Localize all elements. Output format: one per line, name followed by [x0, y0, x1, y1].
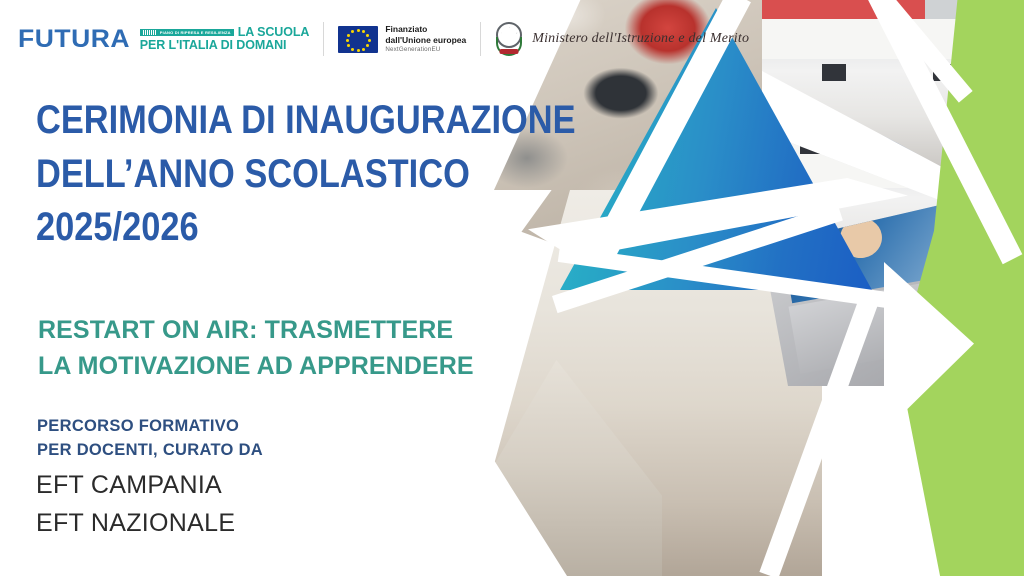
- photo-collage: [432, 0, 1024, 576]
- futura-logo: FUTURA PIANO DI RIPRESA E RESILIENZA LA …: [18, 26, 309, 53]
- pnrr-dots-icon: [143, 30, 157, 35]
- event-subtitle: RESTART ON AIR: TRASMETTERE LA MOTIVAZIO…: [38, 313, 598, 384]
- logo-divider-1: [323, 22, 324, 56]
- italy-emblem-icon: [495, 24, 523, 54]
- subtitle-line-1: RESTART ON AIR: TRASMETTERE: [38, 313, 598, 349]
- pnrr-badge: PIANO DI RIPRESA E RESILIENZA: [140, 29, 234, 36]
- kicker-line-1: PERCORSO FORMATIVO: [37, 414, 263, 438]
- eu-line-1: Finanziato: [385, 24, 466, 35]
- eu-funding-text: Finanziato dall'Unione europea NextGener…: [385, 24, 466, 54]
- eu-line-3: NextGenerationEU: [385, 46, 466, 54]
- futura-topline: PIANO DI RIPRESA E RESILIENZA LA SCUOLA: [140, 26, 310, 40]
- course-kicker: PERCORSO FORMATIVO PER DOCENTI, CURATO D…: [37, 414, 263, 463]
- organizer-line-1: EFT CAMPANIA: [36, 466, 235, 504]
- futura-tagline-block: PIANO DI RIPRESA E RESILIENZA LA SCUOLA …: [140, 26, 310, 53]
- futura-wordmark: FUTURA: [18, 27, 130, 52]
- eu-funding-logo: Finanziato dall'Unione europea NextGener…: [338, 24, 466, 54]
- eu-flag-icon: [338, 26, 378, 53]
- page-title: CERIMONIA DI INAUGURAZIONE DELL’ANNO SCO…: [36, 94, 500, 255]
- poster-root: FUTURA PIANO DI RIPRESA E RESILIENZA LA …: [0, 0, 1024, 576]
- title-line-2: DELL’ANNO SCOLASTICO: [36, 148, 500, 202]
- subtitle-line-2: LA MOTIVAZIONE AD APPRENDERE: [38, 349, 598, 385]
- futura-tagline-line1: LA SCUOLA: [238, 26, 310, 40]
- organizer-line-2: EFT NAZIONALE: [36, 504, 235, 542]
- logo-divider-2: [480, 22, 481, 56]
- eu-line-2: dall'Unione europea: [385, 35, 466, 46]
- pnrr-badge-label: PIANO DI RIPRESA E RESILIENZA: [160, 29, 231, 36]
- futura-tagline-line2: PER L'ITALIA DI DOMANI: [140, 39, 310, 53]
- ministry-name: Ministero dell'Istruzione e del Merito: [532, 31, 749, 47]
- kicker-line-2: PER DOCENTI, CURATO DA: [37, 438, 263, 462]
- title-line-3: 2025/2026: [36, 201, 500, 255]
- title-line-1: CERIMONIA DI INAUGURAZIONE: [36, 94, 500, 148]
- logo-bar: FUTURA PIANO DI RIPRESA E RESILIENZA LA …: [18, 18, 749, 60]
- organizer-list: EFT CAMPANIA EFT NAZIONALE: [36, 466, 235, 542]
- ministry-logo: Ministero dell'Istruzione e del Merito: [495, 24, 749, 54]
